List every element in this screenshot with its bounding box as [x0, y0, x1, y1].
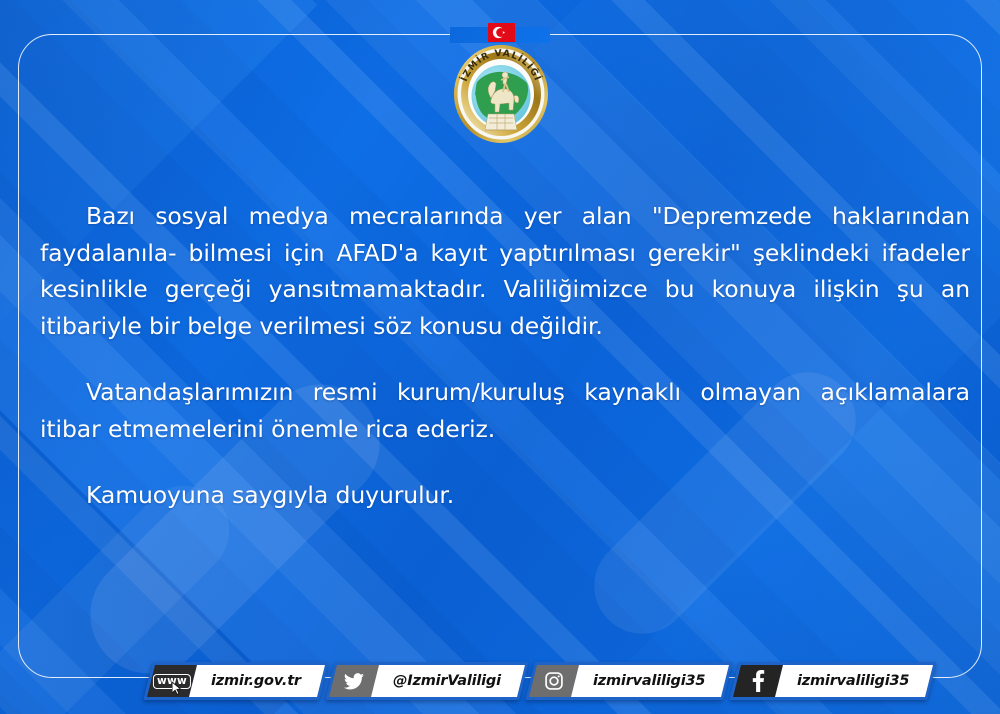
paragraph-1: Bazı sosyal medya mecralarında yer alan … [40, 198, 970, 344]
social-badge-twitter[interactable]: @IzmirValiligi [325, 662, 528, 700]
social-handle-website-wrap: izmir.gov.tr [189, 665, 325, 697]
social-badge-website[interactable]: www izmir.gov.tr [143, 662, 328, 700]
social-handle-twitter-wrap: @IzmirValiligi [371, 665, 525, 697]
social-handle-instagram-wrap: izmirvaliligi35 [571, 665, 729, 697]
paragraph-3: Kamuoyuna saygıyla duyurulur. [40, 477, 970, 514]
social-handle-website: izmir.gov.tr [211, 673, 301, 689]
announcement-poster: İZMİR VALİLİĞİ Bazı sosyal medya mecrala… [0, 0, 1000, 714]
paragraph-1-text: Bazı sosyal medya mecralarında yer alan … [40, 198, 970, 344]
social-handle-twitter: @IzmirValiligi [393, 673, 501, 689]
turkish-flag-icon [488, 23, 515, 42]
social-badge-instagram[interactable]: izmirvaliligi35 [525, 662, 733, 700]
announcement-body: Bazı sosyal medya mecralarında yer alan … [40, 198, 970, 514]
social-handle-instagram: izmirvaliligi35 [593, 673, 705, 689]
social-handle-facebook-wrap: izmirvaliligi35 [775, 665, 933, 697]
social-handle-facebook: izmirvaliligi35 [797, 673, 909, 689]
social-media-bar: www izmir.gov.tr @IzmirValiligi [148, 662, 932, 700]
izmir-valiligi-crest: İZMİR VALİLİĞİ [443, 18, 559, 146]
social-badge-facebook[interactable]: izmirvaliligi35 [729, 662, 937, 700]
paragraph-3-text: Kamuoyuna saygıyla duyurulur. [40, 477, 970, 514]
paragraph-2: Vatandaşlarımızın resmi kurum/kuruluş ka… [40, 374, 970, 447]
paragraph-2-text: Vatandaşlarımızın resmi kurum/kuruluş ka… [40, 374, 970, 447]
